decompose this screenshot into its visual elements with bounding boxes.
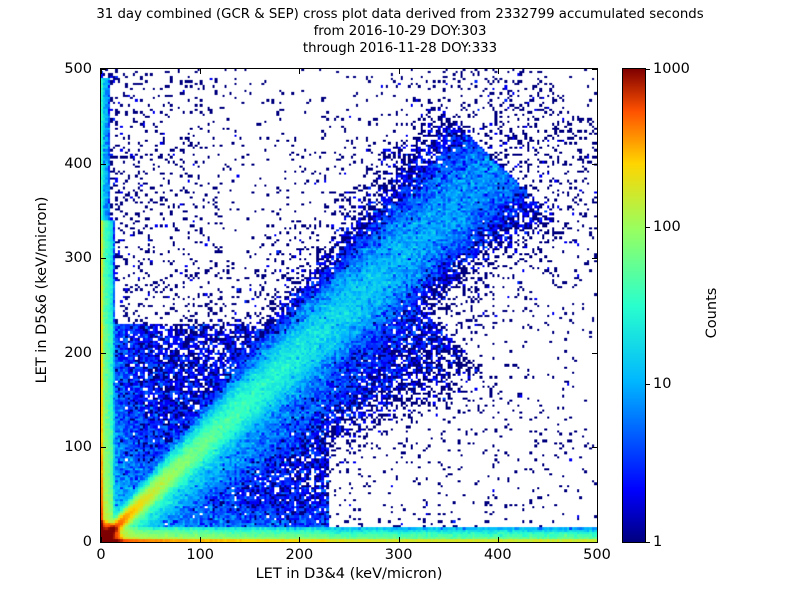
x-tick-mark <box>498 537 499 542</box>
y-axis-label: LET in D5&6 (keV/micron) <box>34 140 50 440</box>
x-tick-mark <box>597 69 598 74</box>
x-tick-mark <box>597 537 598 542</box>
density-scatter-canvas <box>101 69 597 542</box>
colorbar-tick-mark <box>645 69 650 70</box>
colorbar-tick-mark <box>645 227 650 228</box>
y-tick-mark <box>101 69 106 70</box>
scatter-plot-area <box>100 68 598 543</box>
colorbar-title: Counts <box>704 243 720 383</box>
colorbar-tick-label: 1000 <box>653 61 690 77</box>
y-tick-mark <box>592 353 597 354</box>
x-tick-mark <box>299 69 300 74</box>
y-tick-mark <box>592 542 597 543</box>
x-tick-mark <box>200 69 201 74</box>
x-axis-label: LET in D3&4 (keV/micron) <box>100 566 598 582</box>
figure-canvas: 31 day combined (GCR & SEP) cross plot d… <box>0 0 800 600</box>
colorbar-tick-label: 100 <box>653 219 681 235</box>
title-line-1: 31 day combined (GCR & SEP) cross plot d… <box>0 6 800 23</box>
colorbar-tick-mark <box>645 384 650 385</box>
y-tick-label: 0 <box>0 534 92 550</box>
colorbar <box>622 68 646 543</box>
title-line-2: from 2016-10-29 DOY:303 <box>0 23 800 40</box>
y-tick-label: 100 <box>0 439 92 455</box>
y-tick-mark <box>101 353 106 354</box>
x-tick-mark <box>399 69 400 74</box>
y-tick-mark <box>592 447 597 448</box>
x-tick-mark <box>399 537 400 542</box>
x-tick-mark <box>200 537 201 542</box>
y-tick-mark <box>101 258 106 259</box>
x-tick-mark <box>498 69 499 74</box>
colorbar-tick-label: 1 <box>653 534 662 550</box>
y-tick-mark <box>592 258 597 259</box>
plot-title: 31 day combined (GCR & SEP) cross plot d… <box>0 6 800 57</box>
y-tick-mark <box>101 542 106 543</box>
y-tick-mark <box>101 164 106 165</box>
colorbar-tick-mark <box>645 542 650 543</box>
x-tick-label: 200 <box>286 547 314 563</box>
colorbar-gradient <box>623 69 645 542</box>
title-line-3: through 2016-11-28 DOY:333 <box>0 40 800 57</box>
y-tick-mark <box>101 447 106 448</box>
x-tick-label: 300 <box>385 547 413 563</box>
colorbar-tick-label: 10 <box>653 376 671 392</box>
y-tick-mark <box>592 164 597 165</box>
x-tick-label: 400 <box>484 547 512 563</box>
x-tick-label: 100 <box>186 547 214 563</box>
y-tick-label: 500 <box>0 61 92 77</box>
x-tick-mark <box>299 537 300 542</box>
x-tick-label: 0 <box>96 547 105 563</box>
y-tick-mark <box>592 69 597 70</box>
x-tick-label: 500 <box>583 547 611 563</box>
